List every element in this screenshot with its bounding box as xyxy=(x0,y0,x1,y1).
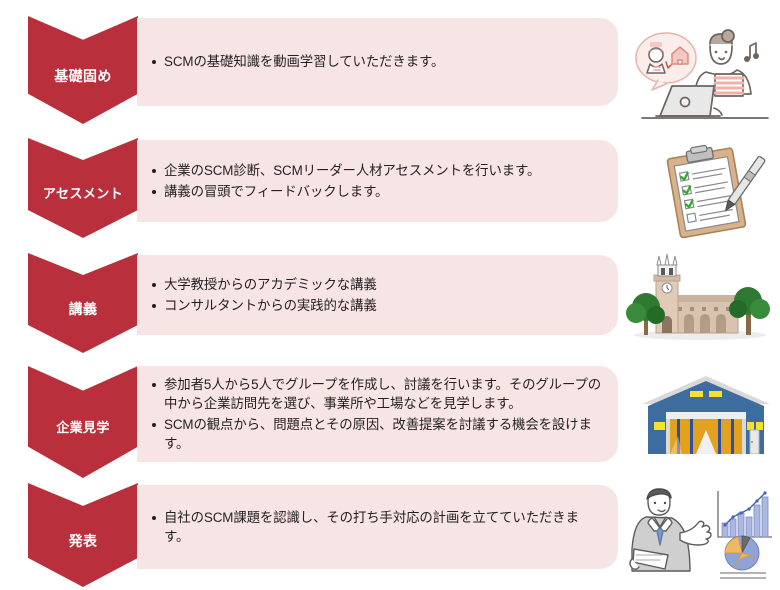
process-step-row: 発表 自社のSCM課題を認識し、その打ち手対応の計画を立てていただきます。 xyxy=(0,483,780,587)
list-item: SCMの観点から、問題点とその原因、改善提案を討議する機会を設けます。 xyxy=(151,415,602,453)
step-content-panel: SCMの基礎知識を動画学習していただきます。 xyxy=(137,18,618,106)
step-content-panel: 参加者5人から5人でグループを作成し、討議を行います。そのグループの中から企業訪… xyxy=(137,366,618,462)
step-chevron-basics[interactable]: 基礎固め xyxy=(28,16,138,124)
clipboard-checklist-pen-icon xyxy=(645,140,777,240)
step-label: 発表 xyxy=(69,533,98,549)
bullet-list: 参加者5人から5人でグループを作成し、討議を行います。そのグループの中から企業訪… xyxy=(151,375,602,452)
businessman-presentation-charts-icon xyxy=(622,483,778,579)
university-clocktower-building-icon xyxy=(622,253,778,349)
step-content-panel: 自社のSCM課題を認識し、その打ち手対応の計画を立てていただきます。 xyxy=(137,485,618,569)
process-step-row: 企業見学 参加者5人から5人でグループを作成し、討議を行います。そのグループの中… xyxy=(0,366,780,478)
bullet-list: SCMの基礎知識を動画学習していただきます。 xyxy=(151,52,602,71)
list-item: 自社のSCM課題を認識し、その打ち手対応の計画を立てていただきます。 xyxy=(151,508,602,546)
bullet-list: 大学教授からのアカデミックな講義 コンサルタントからの実践的な講義 xyxy=(151,275,602,314)
step-label: アセスメント xyxy=(43,187,123,202)
process-step-row: アセスメント 企業のSCM診断、SCMリーダー人材アセスメントを行います。 講義… xyxy=(0,138,780,238)
list-item: コンサルタントからの実践的な講義 xyxy=(151,296,602,315)
step-label: 講義 xyxy=(69,301,98,317)
bullet-list: 企業のSCM診断、SCMリーダー人材アセスメントを行います。 講義の冒頭でフィー… xyxy=(151,161,602,200)
list-item: 企業のSCM診断、SCMリーダー人材アセスメントを行います。 xyxy=(151,161,602,180)
process-step-row: 基礎固め SCMの基礎知識を動画学習していただきます。 xyxy=(0,16,780,124)
step-content-panel: 大学教授からのアカデミックな講義 コンサルタントからの実践的な講義 xyxy=(137,255,618,335)
list-item: SCMの基礎知識を動画学習していただきます。 xyxy=(151,52,602,71)
step-chevron-company-visit[interactable]: 企業見学 xyxy=(28,366,138,478)
process-step-row: 講義 大学教授からのアカデミックな講義 コンサルタントからの実践的な講義 xyxy=(0,253,780,353)
bullet-list: 自社のSCM課題を認識し、その打ち手対応の計画を立てていただきます。 xyxy=(151,508,602,546)
process-diagram: 基礎固め SCMの基礎知識を動画学習していただきます。 xyxy=(0,0,780,590)
list-item: 参加者5人から5人でグループを作成し、討議を行います。そのグループの中から企業訪… xyxy=(151,375,602,413)
blue-factory-warehouse-icon xyxy=(634,374,778,462)
step-chevron-assessment[interactable]: アセスメント xyxy=(28,138,138,238)
list-item: 大学教授からのアカデミックな講義 xyxy=(151,275,602,294)
step-label: 基礎固め xyxy=(54,68,112,84)
step-label: 企業見学 xyxy=(56,421,110,436)
step-content-panel: 企業のSCM診断、SCMリーダー人材アセスメントを行います。 講義の冒頭でフィー… xyxy=(137,140,618,222)
step-chevron-lecture[interactable]: 講義 xyxy=(28,253,138,353)
list-item: 講義の冒頭でフィードバックします。 xyxy=(151,182,602,201)
step-chevron-presentation[interactable]: 発表 xyxy=(28,483,138,587)
woman-laptop-video-learning-icon xyxy=(628,20,776,130)
